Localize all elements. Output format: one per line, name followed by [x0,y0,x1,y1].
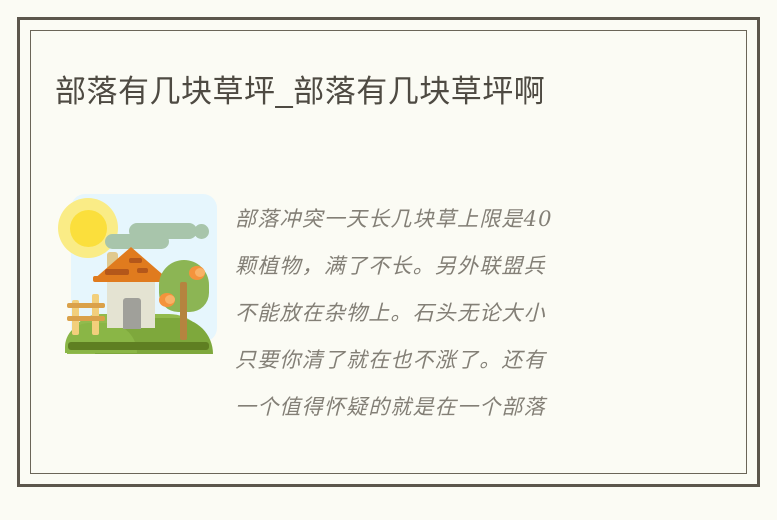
cloud-dot-icon [194,224,209,239]
fruit-highlight [165,295,175,304]
tree-trunk [180,282,187,340]
roof-brick [137,268,148,273]
ground-strip [68,342,209,350]
body-line: 一个值得怀疑的就是在一个部落 [235,384,729,431]
body-line: 只要你清了就在也不涨了。还有 [235,337,729,384]
roof-brick [129,258,142,263]
sun-icon [70,210,107,247]
house-landscape-illustration [55,190,217,352]
page-root: 部落有几块草坪_部落有几块草坪啊 [0,0,777,520]
roof-brick [105,269,129,275]
page-title: 部落有几块草坪_部落有几块草坪啊 [55,69,695,115]
article-body: 部落冲突一天长几块草上限是40 颗植物，满了不长。另外联盟兵 不能放在杂物上。石… [235,190,729,431]
fence-rail [67,303,105,308]
article-content: 部落冲突一天长几块草上限是40 颗植物，满了不长。另外联盟兵 不能放在杂物上。石… [55,190,729,431]
fence-post [92,294,99,335]
fruit-highlight [195,268,205,277]
outer-border-frame: 部落有几块草坪_部落有几块草坪啊 [17,17,760,487]
house-roof-base [93,276,169,282]
fence-rail [67,316,105,321]
body-line: 不能放在杂物上。石头无论大小 [235,290,729,337]
body-line: 部落冲突一天长几块草上限是40 [235,196,729,243]
body-line: 颗植物，满了不长。另外联盟兵 [235,243,729,290]
house-door [123,298,141,329]
